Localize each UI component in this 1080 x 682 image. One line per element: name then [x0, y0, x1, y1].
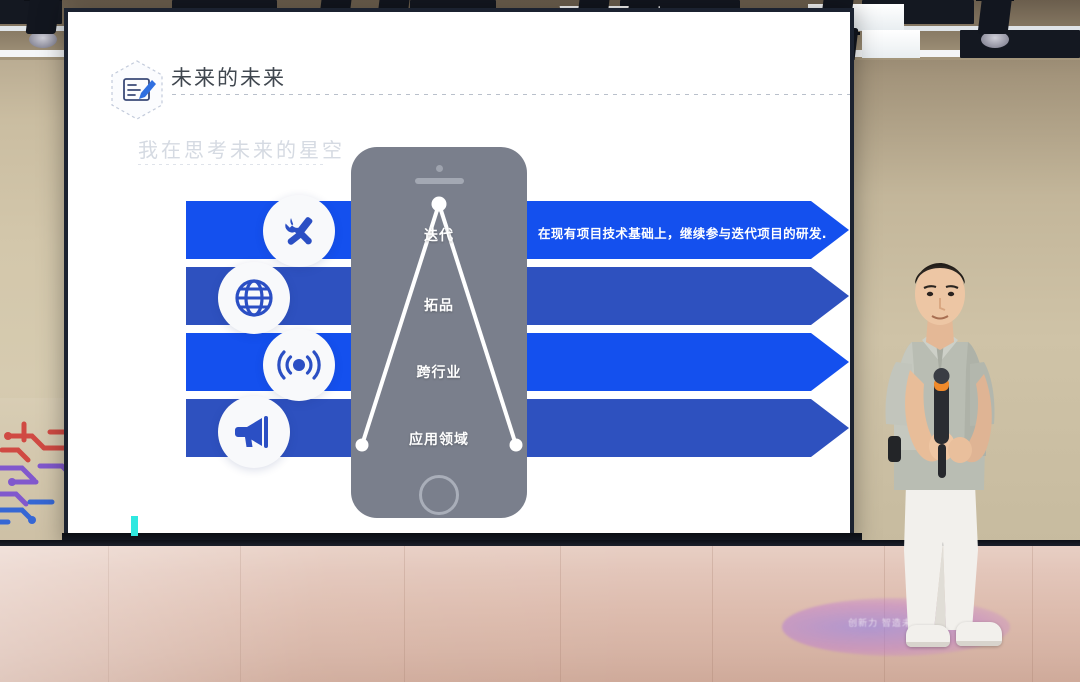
- arrow-head-2: [811, 267, 849, 325]
- phone-home-button: [419, 475, 459, 515]
- slide-title: 未来的未来: [171, 62, 286, 92]
- presenter: [860, 250, 1040, 682]
- slide-icon-broadcast: [263, 329, 335, 401]
- slide-subtitle: 我在思考未来的星空: [138, 134, 345, 163]
- band-1-text: 在现有项目技术基础上，继续参与迭代项目的研发.: [538, 223, 838, 242]
- phone-camera: [436, 165, 443, 172]
- megaphone-icon: [232, 412, 276, 452]
- phone-label-4: 应用领域: [351, 429, 527, 449]
- slide-icon-tools: [263, 195, 335, 267]
- arrow-head-4: [811, 399, 849, 457]
- slide-icon-globe: [218, 262, 290, 334]
- subtitle-divider: [138, 164, 324, 165]
- presentation-screen[interactable]: 未来的未来 我在思考未来的星空 在现有项目技术基础上，继续参与迭代项目的研发.: [68, 12, 850, 540]
- phone-speaker: [415, 178, 464, 184]
- screen-cyan-marker: [131, 516, 138, 536]
- slide-content: 未来的未来 我在思考未来的星空 在现有项目技术基础上，继续参与迭代项目的研发.: [68, 12, 850, 540]
- phone-label-3: 跨行业: [351, 362, 527, 382]
- phone-mockup: [351, 147, 527, 518]
- title-divider: [172, 94, 850, 95]
- globe-icon: [233, 277, 275, 319]
- tools-icon: [277, 209, 321, 253]
- venue-scene: 创新力: [0, 0, 1080, 682]
- arrow-head-3: [811, 333, 849, 391]
- phone-label-2: 拓品: [351, 295, 527, 315]
- slide-icon-megaphone: [218, 396, 290, 468]
- phone-label-1: 迭代: [351, 225, 527, 245]
- document-edit-icon: [108, 59, 166, 121]
- broadcast-icon: [276, 345, 322, 385]
